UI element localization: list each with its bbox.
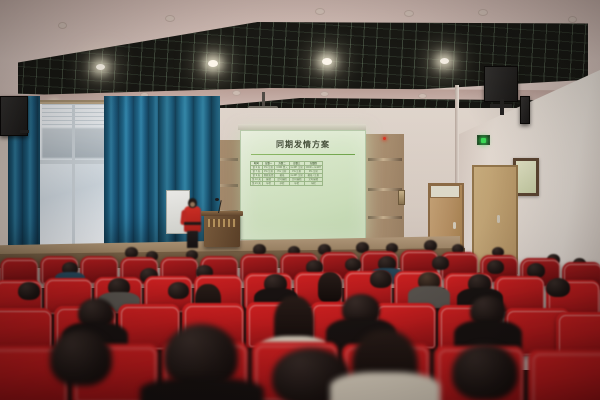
speaker-bracket (490, 104, 512, 108)
audience-member (487, 260, 504, 274)
ceiling-downlight (232, 90, 241, 96)
ceiling-downlight (165, 15, 175, 22)
audience-member (50, 330, 112, 386)
wall-speaker (520, 96, 530, 124)
audience-member (546, 278, 570, 297)
window-mullion (40, 160, 107, 164)
audience-member (345, 258, 361, 271)
presenter-legs (187, 231, 198, 248)
ceiling-downlight (404, 10, 414, 17)
audience-member (370, 270, 392, 288)
slide-table-cell: GnRH 注射 (289, 174, 304, 178)
door-handle[interactable] (453, 222, 456, 229)
slide-table-cell: CIDR 置入 (275, 166, 289, 170)
microphone-head (215, 198, 219, 201)
audience-member (432, 256, 449, 270)
exit-sign (477, 135, 490, 145)
slide-table-cell: 孕检 (262, 182, 275, 186)
ceiling-downlight (315, 8, 325, 15)
audience-member (318, 272, 342, 302)
slide-table: 时间 方案一 方案二 方案三 方案四 第 0 天 PG 注射 CIDR 置入 G… (250, 161, 323, 186)
slide-table-cell: CIDR + GnRH (304, 166, 322, 170)
slide-title: 同期发情方案 (241, 139, 365, 150)
wall-sconce (398, 190, 405, 205)
wall-panel-trim (368, 158, 402, 161)
wall-panel-trim (368, 216, 402, 219)
ceiling-downlight (478, 9, 488, 16)
audience-member (18, 282, 40, 300)
wall-wood-panel (366, 134, 404, 238)
slide-accent-rule (251, 154, 355, 155)
slide-table-row: 第 21 天 孕检 孕检 孕检 孕检 (251, 182, 323, 186)
ceiling-downlight (96, 64, 105, 70)
presenter (184, 206, 201, 232)
presenter-belt (184, 222, 201, 225)
presenter-face (190, 202, 195, 207)
ceiling-downlight (418, 93, 427, 99)
slide-table-cell: 第 10 天 (251, 178, 263, 182)
slide-table-cell: 观察发情 (262, 174, 275, 178)
projection-screen: 同期发情方案 时间 方案一 方案二 方案三 方案四 第 0 天 PG 注射 CI… (240, 130, 366, 240)
ceiling-downlight (568, 16, 577, 23)
status-led-indicator (383, 137, 386, 140)
ceiling-downlight (320, 91, 329, 97)
exit-sign-light (481, 138, 486, 143)
slide-table-cell: PG 注射 (262, 166, 275, 170)
audience-shoulders (140, 378, 264, 400)
slide-table-cell: 孕检 (275, 182, 289, 186)
door-transom-window (430, 185, 460, 198)
podium-front-detail (208, 219, 236, 227)
ceiling-downlight (208, 60, 218, 67)
audience-shoulders (330, 372, 440, 400)
door-handle[interactable] (497, 215, 500, 223)
podium-top (201, 211, 243, 216)
slide-table-cell: PG 注射 (262, 170, 275, 174)
ceiling-downlight (440, 58, 449, 64)
ceiling-downlight (58, 22, 67, 29)
window-mullion (72, 104, 75, 246)
wall-panel-trim (368, 188, 402, 191)
photo-scene: 同期发情方案 时间 方案一 方案二 方案三 方案四 第 0 天 PG 注射 CI… (0, 0, 600, 400)
audience-member (452, 344, 518, 400)
slide-table-cell: 孕检 (304, 182, 322, 186)
slide-table-cell: GnRH 注射 (289, 166, 304, 170)
speaker-bracket (20, 130, 29, 133)
ceiling-downlight (322, 58, 332, 65)
audience-member (168, 282, 189, 299)
window-curtain[interactable] (104, 96, 160, 256)
wall-speaker (484, 66, 518, 102)
slide-table-cell: 孕检 (289, 182, 304, 186)
auditorium-seat (528, 350, 600, 400)
slide-table-cell: 第 21 天 (251, 182, 263, 186)
slide-table-cell: 定时输精 (275, 178, 289, 182)
